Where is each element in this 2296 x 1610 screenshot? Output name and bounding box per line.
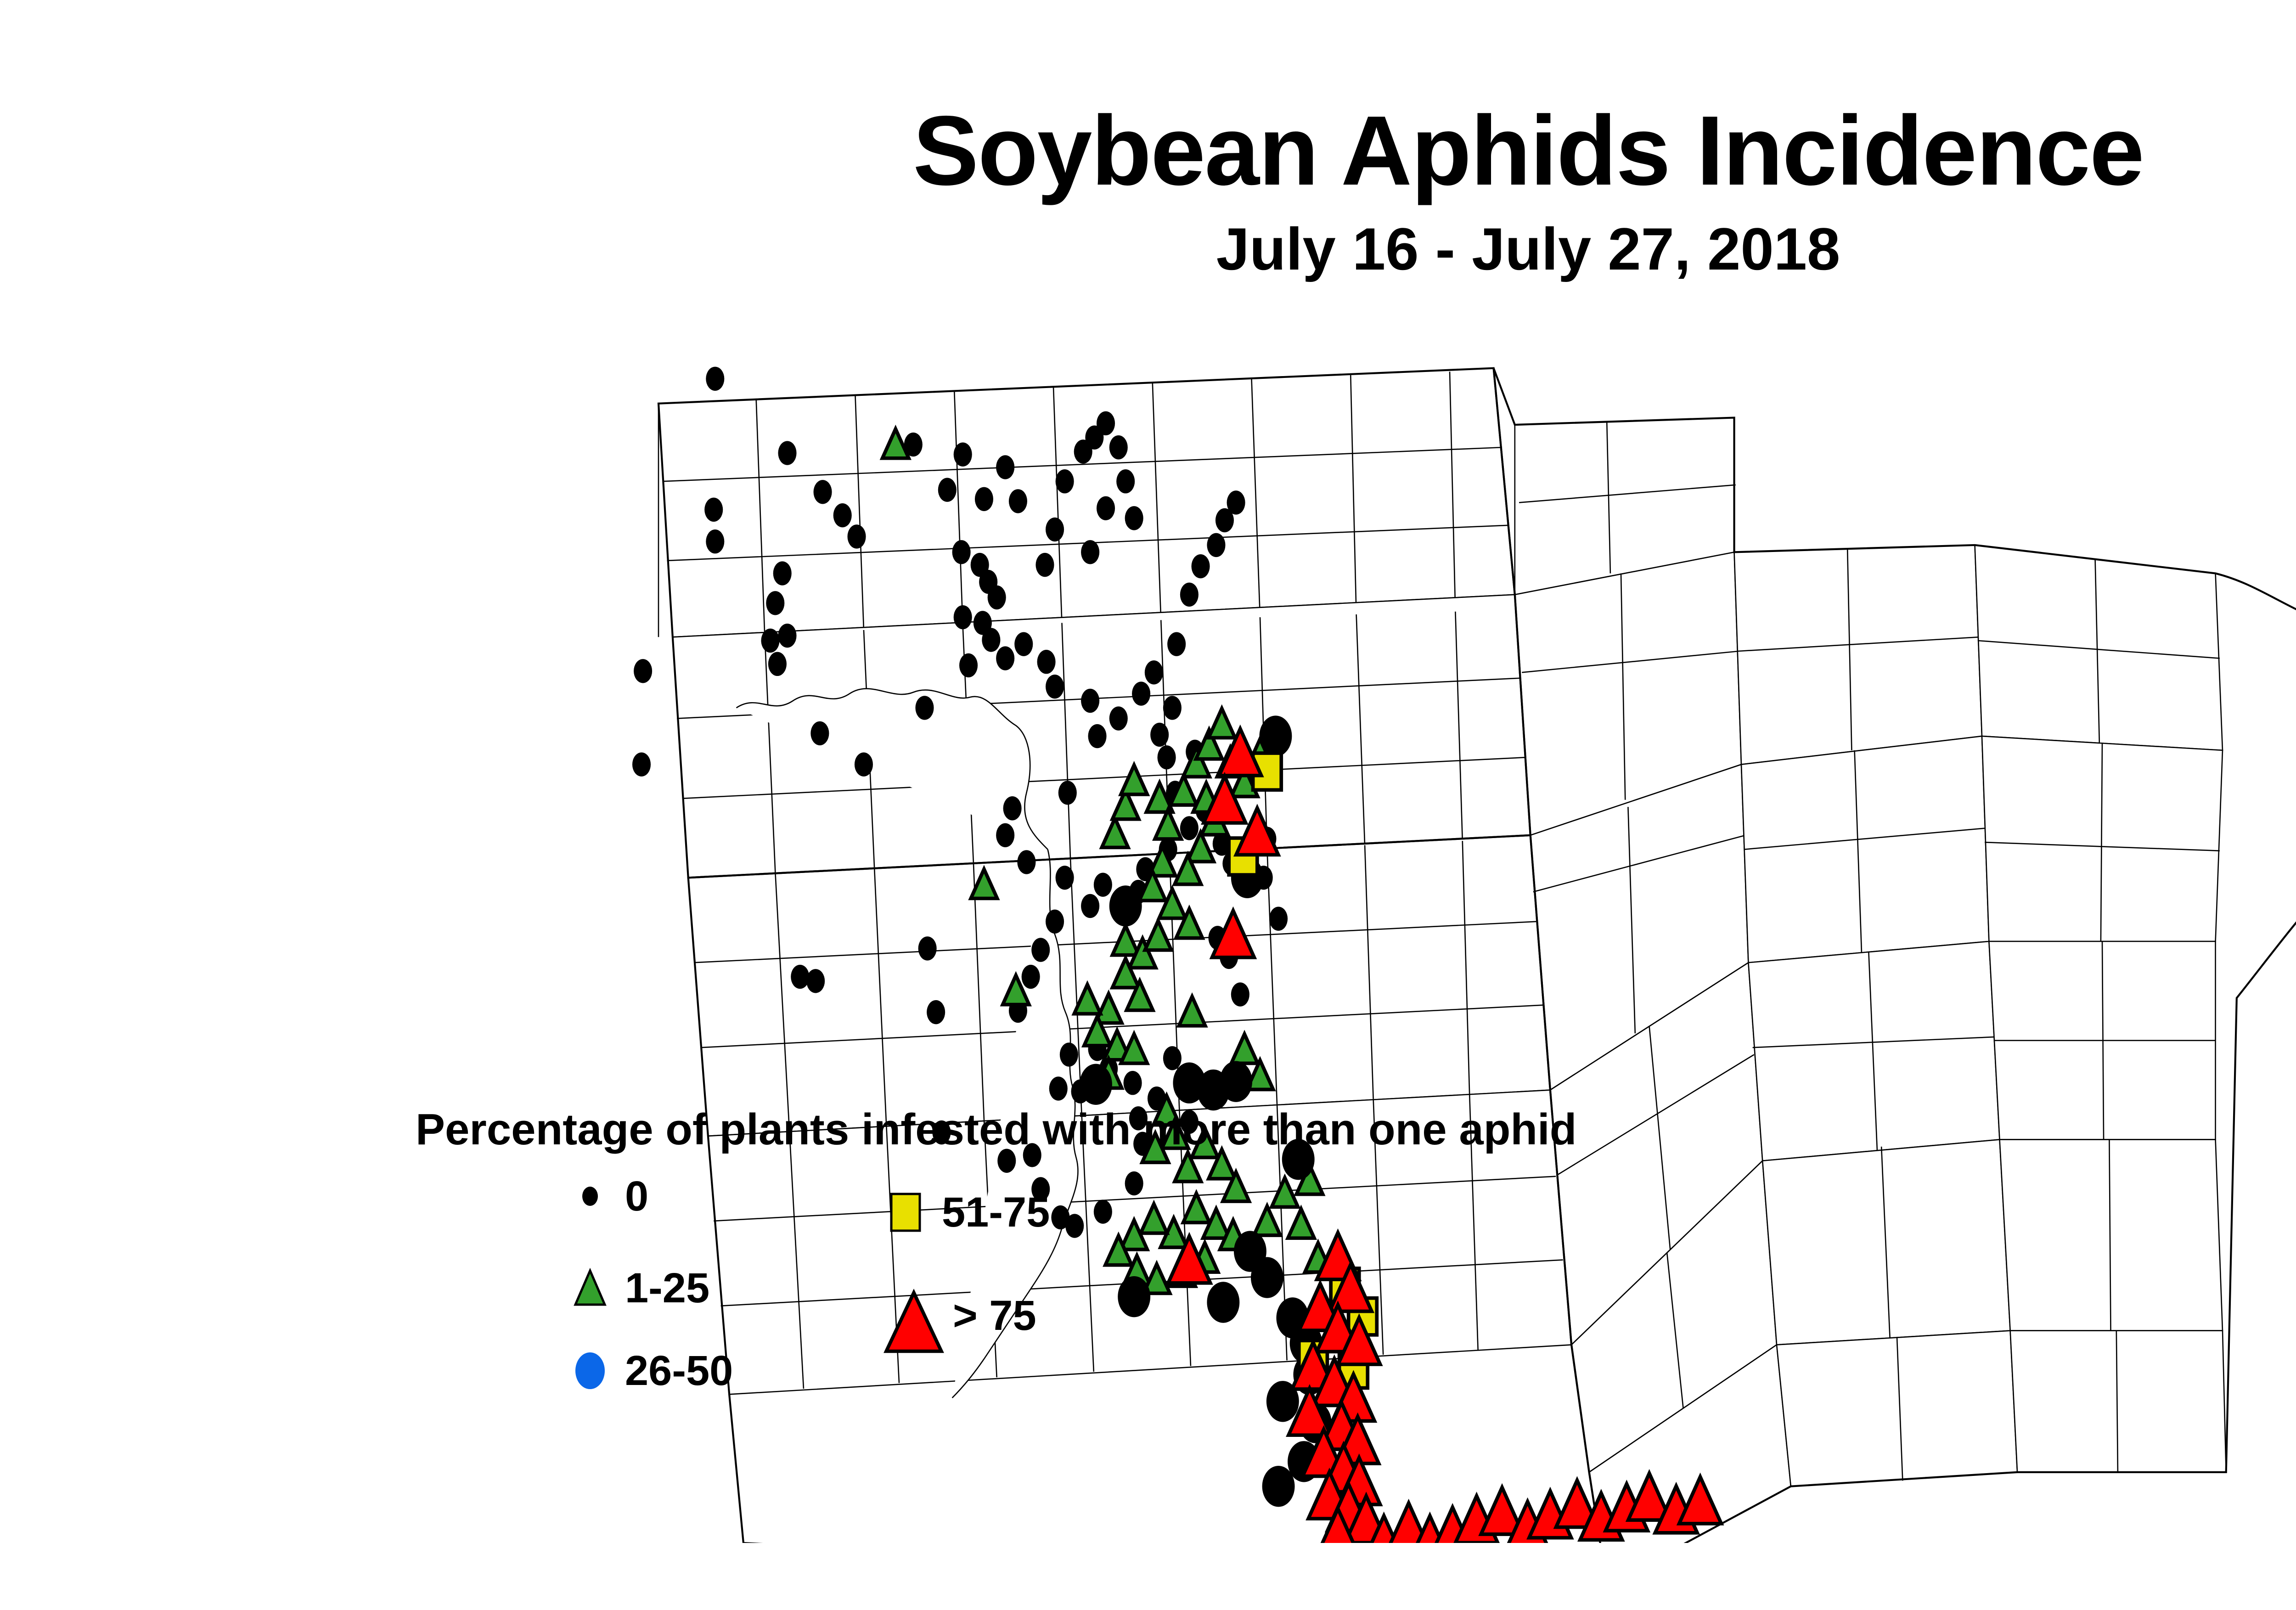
map-marker-zero[interactable] [1167,632,1186,656]
map-marker-zero[interactable] [1031,938,1050,962]
map-marker-zero[interactable] [1014,632,1033,656]
map-marker-zero[interactable] [952,540,971,564]
map-marker-zero[interactable] [1017,850,1035,874]
map-marker-zero[interactable] [1109,706,1128,730]
page-subtitle: July 16 - July 27, 2018 [0,219,2296,279]
map-marker-zero[interactable] [1116,469,1135,493]
legend-label-1-25: 1-25 [625,1264,709,1312]
map-marker-zero[interactable] [1003,796,1022,820]
legend-item-over-75[interactable]: > 75 [879,1288,1036,1343]
map-marker-zero[interactable] [1081,689,1099,713]
map-marker-zero[interactable] [996,823,1014,847]
legend-label-0: 0 [625,1172,648,1221]
map-marker-zero[interactable] [1046,675,1064,698]
map-marker-zero[interactable] [1056,866,1074,889]
map-marker-zero[interactable] [1158,745,1176,769]
legend-item-1-25[interactable]: 1-25 [563,1261,709,1316]
map-marker-zero[interactable] [768,652,787,676]
map-marker-zero[interactable] [1145,660,1163,684]
map-marker-zero[interactable] [1088,724,1106,748]
map-marker-zero[interactable] [761,629,779,653]
map-marker-zero[interactable] [833,503,852,527]
legend: Percentage of plants infested with more … [416,1104,1724,1444]
map-marker-zero[interactable] [778,441,796,465]
map-marker-zero[interactable] [904,433,923,456]
map-marker-zero[interactable] [982,628,1000,652]
map-marker-zero[interactable] [778,624,796,647]
legend-swatch-triangle-green [563,1261,618,1316]
legend-item-51-75[interactable]: 51-75 [879,1185,1050,1240]
map-marker-zero[interactable] [1022,965,1040,989]
map-marker-zero[interactable] [988,585,1006,609]
map-marker-zero[interactable] [706,529,724,553]
soybean-aphids-map-figure: Soybean Aphids Incidence July 16 - July … [0,0,2296,1610]
map-marker-zero[interactable] [847,524,866,548]
map-marker-zero[interactable] [632,753,651,777]
page-title: Soybean Aphids Incidence [0,101,2296,200]
map-marker-zero[interactable] [1097,411,1115,435]
map-marker-zero[interactable] [1094,873,1112,897]
map-marker-zero[interactable] [1192,554,1210,578]
map-marker-moderate[interactable] [1262,1466,1295,1507]
map-marker-zero[interactable] [1081,894,1099,918]
map-marker-zero[interactable] [1207,533,1225,557]
map-marker-zero[interactable] [954,442,972,466]
map-marker-zero[interactable] [1037,650,1056,674]
map-marker-zero[interactable] [996,455,1014,479]
map-marker-zero[interactable] [938,478,957,502]
map-marker-zero[interactable] [1081,540,1099,564]
map-marker-zero[interactable] [1180,816,1199,840]
legend-label-26-50: 26-50 [625,1347,733,1395]
map-marker-zero[interactable] [1058,781,1077,805]
legend-item-0[interactable]: 0 [563,1169,648,1224]
map-marker-zero[interactable] [1109,435,1128,459]
map-marker-zero[interactable] [1056,469,1074,493]
map-marker-zero[interactable] [766,591,784,615]
map-marker-zero[interactable] [1124,1071,1142,1095]
map-marker-zero[interactable] [1231,982,1249,1006]
map-marker-zero[interactable] [634,659,652,683]
map-marker-zero[interactable] [706,367,724,391]
map-marker-zero[interactable] [927,1000,945,1024]
map-marker-moderate[interactable] [1109,885,1142,926]
map-marker-zero[interactable] [855,753,873,777]
map-marker-zero[interactable] [1163,696,1182,720]
map-marker-zero[interactable] [806,969,825,993]
map-marker-zero[interactable] [810,721,829,745]
map-marker-zero[interactable] [1227,490,1245,514]
map-marker-zero[interactable] [1060,1042,1078,1066]
map-marker-zero[interactable] [1009,489,1027,513]
legend-swatch-square-yellow [879,1185,934,1240]
map-marker-zero[interactable] [954,605,972,629]
map-marker-zero[interactable] [1132,681,1150,705]
legend-item-26-50[interactable]: 26-50 [563,1343,733,1398]
map-marker-moderate[interactable] [1220,1061,1252,1102]
map-marker-zero[interactable] [773,561,792,585]
map-marker-zero[interactable] [1097,496,1115,520]
map-marker-zero[interactable] [975,487,993,511]
map-marker-zero[interactable] [791,965,809,989]
map-marker-zero[interactable] [1180,583,1199,607]
map-marker-moderate[interactable] [1259,715,1292,756]
map-marker-moderate[interactable] [1080,1064,1112,1105]
map-marker-zero[interactable] [814,480,832,504]
legend-swatch-triangle-red [879,1288,934,1343]
map-marker-zero[interactable] [1125,506,1143,530]
map-marker-zero[interactable] [915,696,934,720]
map-marker-zero[interactable] [959,653,978,677]
map-marker-zero[interactable] [1046,518,1064,541]
map-marker-zero[interactable] [1035,553,1054,577]
legend-label-over-75: > 75 [953,1292,1036,1340]
title-block: Soybean Aphids Incidence July 16 - July … [0,101,2296,279]
legend-label-51-75: 51-75 [942,1188,1050,1237]
legend-title: Percentage of plants infested with more … [416,1104,1576,1155]
map-marker-zero[interactable] [1163,1046,1182,1070]
map-marker-zero[interactable] [1049,1076,1068,1100]
legend-swatch-circle-black [563,1169,618,1224]
map-marker-zero[interactable] [704,498,723,522]
map-marker-zero[interactable] [918,936,937,960]
map-marker-zero[interactable] [1269,906,1288,930]
legend-swatch-circle-blue [563,1343,618,1398]
map-marker-zero[interactable] [996,646,1014,670]
map-marker-zero[interactable] [1150,723,1169,747]
map-marker-zero[interactable] [1046,910,1064,934]
